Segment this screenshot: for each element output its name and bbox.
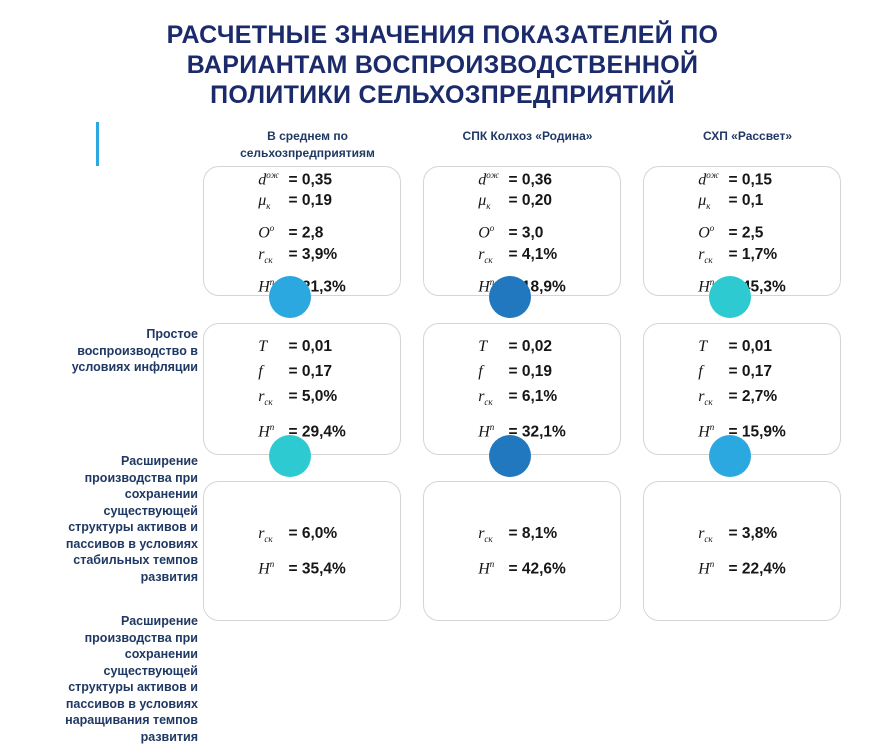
- formula-list-r2c1: T = 0,01f = 0,17rск = 5,0%Hп = 29,4%: [258, 334, 346, 445]
- formula-value: = 42,6%: [504, 560, 566, 577]
- formula-value: = 3,9%: [284, 246, 337, 263]
- column-header-average-line-1: В среднем по: [200, 128, 415, 145]
- formula-value: = 2,8: [284, 224, 323, 241]
- formula-value: = 2,7%: [724, 388, 777, 405]
- formula-symbol: rск: [698, 521, 724, 552]
- connector-dot-r1c1: [269, 276, 311, 318]
- formula-value: = 3,8%: [724, 525, 777, 542]
- column-header-average: В среднем по сельхозпредприятиям: [200, 128, 415, 162]
- formula-row: dож = 0,36: [478, 165, 566, 191]
- formula-list-r1c3: dож = 0,15μк = 0,1Oо = 2,5rск = 1,7%Hп =…: [698, 165, 786, 298]
- formula-symbol: T: [258, 334, 284, 359]
- formula-value: = 1,7%: [724, 246, 777, 263]
- formula-symbol: f: [478, 359, 504, 384]
- formula-symbol: T: [698, 334, 724, 359]
- formula-symbol: rск: [698, 244, 724, 272]
- formula-row: rск = 8,1%: [478, 521, 566, 552]
- formula-value: = 35,4%: [284, 560, 346, 577]
- cell-card-r3c3: rск = 3,8%Hп = 22,4%: [643, 481, 841, 621]
- formula-list-r3c1: rск = 6,0%Hп = 35,4%: [258, 521, 346, 582]
- formula-symbol: dож: [258, 165, 284, 191]
- cell-card-r1c1: dож = 0,35μк = 0,19Oо = 2,8rск = 3,9%Hп …: [203, 166, 401, 296]
- formula-symbol: dож: [478, 165, 504, 191]
- formula-symbol: rск: [698, 384, 724, 415]
- formula-value: = 3,0: [504, 224, 543, 241]
- row-label-expansion-growth: Расширение производства при сохранении с…: [58, 613, 198, 745]
- column-header-rodina: СПК Колхоз «Родина»: [420, 128, 635, 145]
- cell-card-r3c2: rск = 8,1%Hп = 42,6%: [423, 481, 621, 621]
- formula-value: = 6,0%: [284, 525, 337, 542]
- formula-value: = 0,19: [504, 363, 552, 380]
- formula-symbol: rск: [478, 521, 504, 552]
- formula-symbol: rск: [258, 384, 284, 415]
- connector-dot-r2c1: [269, 435, 311, 477]
- formula-row: rск = 6,0%: [258, 521, 346, 552]
- formula-row: μк = 0,20: [478, 190, 566, 218]
- formula-value: = 0,15: [724, 171, 772, 188]
- formula-value: = 0,17: [724, 363, 772, 380]
- formula-value: = 0,20: [504, 192, 552, 209]
- formula-value: = 0,01: [284, 338, 332, 355]
- formula-symbol: f: [258, 359, 284, 384]
- formula-symbol: Oо: [478, 218, 504, 244]
- column-header-rassvet: СХП «Рассвет»: [640, 128, 855, 145]
- formula-symbol: Oо: [698, 218, 724, 244]
- formula-row: rск = 4,1%: [478, 244, 566, 272]
- column-header-average-line-2: сельхозпредприятиям: [200, 145, 415, 162]
- formula-symbol: μк: [258, 190, 284, 218]
- formula-row: dож = 0,15: [698, 165, 786, 191]
- cell-card-r2c2: T = 0,02f = 0,19rск = 6,1%Hп = 32,1%: [423, 323, 621, 455]
- row-label-expansion-stable: Расширение производства при сохранении с…: [58, 453, 198, 585]
- formula-row: Oо = 3,0: [478, 218, 566, 244]
- formula-symbol: Hп: [698, 552, 724, 581]
- formula-value: = 0,02: [504, 338, 552, 355]
- formula-value: = 8,1%: [504, 525, 557, 542]
- formula-row: T = 0,01: [698, 334, 786, 359]
- formula-list-r2c3: T = 0,01f = 0,17rск = 2,7%Hп = 15,9%: [698, 334, 786, 445]
- formula-row: rск = 3,8%: [698, 521, 786, 552]
- formula-row: rск = 6,1%: [478, 384, 566, 415]
- formula-symbol: f: [698, 359, 724, 384]
- formula-row: Hп = 42,6%: [478, 552, 566, 581]
- formula-value: = 0,19: [284, 192, 332, 209]
- formula-symbol: Hп: [478, 552, 504, 581]
- page-title: РАСЧЕТНЫЕ ЗНАЧЕНИЯ ПОКАЗАТЕЛЕЙ ПО ВАРИАН…: [0, 20, 885, 110]
- formula-row: T = 0,01: [258, 334, 346, 359]
- formula-list-r1c1: dож = 0,35μк = 0,19Oо = 2,8rск = 3,9%Hп …: [258, 165, 346, 298]
- formula-row: T = 0,02: [478, 334, 566, 359]
- formula-value: = 5,0%: [284, 388, 337, 405]
- formula-symbol: rск: [478, 384, 504, 415]
- formula-row: rск = 5,0%: [258, 384, 346, 415]
- formula-value: = 0,1: [724, 192, 763, 209]
- formula-value: = 2,5: [724, 224, 763, 241]
- formula-list-r3c2: rск = 8,1%Hп = 42,6%: [478, 521, 566, 582]
- formula-symbol: Hп: [258, 552, 284, 581]
- page-title-line-1: РАСЧЕТНЫЕ ЗНАЧЕНИЯ ПОКАЗАТЕЛЕЙ ПО: [0, 20, 885, 50]
- formula-symbol: rск: [258, 244, 284, 272]
- cell-card-r1c3: dож = 0,15μк = 0,1Oо = 2,5rск = 1,7%Hп =…: [643, 166, 841, 296]
- formula-row: rск = 3,9%: [258, 244, 346, 272]
- formula-symbol: T: [478, 334, 504, 359]
- formula-row: f = 0,17: [258, 359, 346, 384]
- formula-value: = 22,4%: [724, 560, 786, 577]
- formula-row: f = 0,17: [698, 359, 786, 384]
- formula-row: Oо = 2,8: [258, 218, 346, 244]
- formula-row: Hп = 22,4%: [698, 552, 786, 581]
- row-label-simple-reproduction: Простое воспроизводство в условиях инфля…: [58, 326, 198, 376]
- formula-value: = 0,17: [284, 363, 332, 380]
- formula-value: = 0,01: [724, 338, 772, 355]
- page-title-line-2: ВАРИАНТАМ ВОСПРОИЗВОДСТВЕННОЙ: [0, 50, 885, 80]
- formula-symbol: μк: [698, 190, 724, 218]
- formula-row: μк = 0,1: [698, 190, 786, 218]
- formula-value: = 4,1%: [504, 246, 557, 263]
- formula-row: f = 0,19: [478, 359, 566, 384]
- formula-symbol: rск: [258, 521, 284, 552]
- connector-dot-r1c3: [709, 276, 751, 318]
- cell-card-r2c1: T = 0,01f = 0,17rск = 5,0%Hп = 29,4%: [203, 323, 401, 455]
- connector-dot-r2c3: [709, 435, 751, 477]
- formula-row: μк = 0,19: [258, 190, 346, 218]
- formula-value: = 0,36: [504, 171, 552, 188]
- formula-list-r2c2: T = 0,02f = 0,19rск = 6,1%Hп = 32,1%: [478, 334, 566, 445]
- formula-value: = 0,35: [284, 171, 332, 188]
- formula-list-r3c3: rск = 3,8%Hп = 22,4%: [698, 521, 786, 582]
- page-title-line-3: ПОЛИТИКИ СЕЛЬХОЗПРЕДПРИЯТИЙ: [0, 80, 885, 110]
- connector-dot-r1c2: [489, 276, 531, 318]
- formula-row: Oо = 2,5: [698, 218, 786, 244]
- formula-row: dож = 0,35: [258, 165, 346, 191]
- formula-symbol: μк: [478, 190, 504, 218]
- formula-symbol: rск: [478, 244, 504, 272]
- formula-symbol: Oо: [258, 218, 284, 244]
- formula-list-r1c2: dож = 0,36μк = 0,20Oо = 3,0rск = 4,1%Hп …: [478, 165, 566, 298]
- comparison-grid: В среднем по сельхозпредприятиям СПК Кол…: [0, 128, 885, 658]
- formula-symbol: dож: [698, 165, 724, 191]
- formula-row: Hп = 35,4%: [258, 552, 346, 581]
- connector-dot-r2c2: [489, 435, 531, 477]
- formula-row: rск = 2,7%: [698, 384, 786, 415]
- formula-value: = 6,1%: [504, 388, 557, 405]
- cell-card-r2c3: T = 0,01f = 0,17rск = 2,7%Hп = 15,9%: [643, 323, 841, 455]
- formula-row: rск = 1,7%: [698, 244, 786, 272]
- cell-card-r3c1: rск = 6,0%Hп = 35,4%: [203, 481, 401, 621]
- cell-card-r1c2: dож = 0,36μк = 0,20Oо = 3,0rск = 4,1%Hп …: [423, 166, 621, 296]
